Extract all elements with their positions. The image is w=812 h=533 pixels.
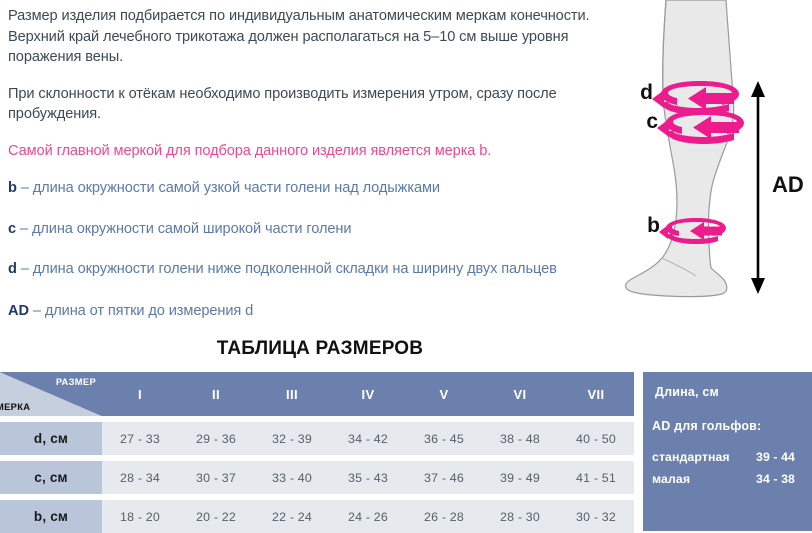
table-header-row: РАЗМЕР МЕРКА I II III IV V VI VII [0,372,634,416]
definition-text-ad: длина от пятки до измерения d [45,303,253,319]
column-header-6: VI [482,372,558,416]
cell-b-4: 24 - 26 [330,500,406,533]
size-table-title: ТАБЛИЦА РАЗМЕРОВ [0,338,640,360]
size-table: РАЗМЕР МЕРКА I II III IV V VI VII d, см … [0,372,634,533]
cell-b-2: 20 - 22 [178,500,254,533]
length-panel-row-standard: стандартная 39 - 44 [652,450,812,464]
cell-c-7: 41 - 51 [558,461,634,494]
diagram-label-b: b [647,214,660,237]
cell-c-1: 28 - 34 [102,461,178,494]
cell-c-5: 37 - 46 [406,461,482,494]
diagram-label-c: c [646,110,658,133]
row-label-c: с, см [0,461,102,494]
cell-d-3: 32 - 39 [254,422,330,455]
definition-c: c – длина окружности самой широкой части… [8,219,604,240]
highlight-note: Самой главной меркой для подбора данного… [8,141,604,162]
cell-c-3: 33 - 40 [254,461,330,494]
definition-dash-ad: – [29,303,45,319]
table-row: с, см 28 - 34 30 - 37 33 - 40 35 - 43 37… [0,461,634,494]
measure-ring-b-icon [659,218,726,244]
cell-c-2: 30 - 37 [178,461,254,494]
column-header-2: II [178,372,254,416]
corner-size-label: РАЗМЕР [56,376,96,387]
length-row-value-small: 34 - 38 [756,472,795,486]
definition-dash-d: – [17,261,33,277]
column-header-5: V [406,372,482,416]
definition-key-d: d [8,261,17,277]
definition-b: b – длина окружности самой узкой части г… [8,178,604,199]
column-header-1: I [102,372,178,416]
leg-silhouette-icon [626,0,734,297]
cell-d-5: 36 - 45 [406,422,482,455]
corner-measure-label: МЕРКА [0,401,30,412]
cell-b-1: 18 - 20 [102,500,178,533]
row-label-b: b, см [0,500,102,533]
length-panel-title: Длина, см [655,385,812,399]
definition-text-b: длина окружности самой узкой части голен… [33,180,440,196]
diagram-label-ad: AD [772,172,804,197]
instruction-paragraph-1: Размер изделия подбирается по индивидуал… [8,6,604,68]
length-info-panel: Длина, см AD для гольфов: стандартная 39… [643,372,812,531]
definition-ad: AD – длина от пятки до измерения d [8,301,604,322]
definition-dash-c: – [16,221,32,237]
definition-text-d: длина окружности голени ниже подколенной… [33,261,557,277]
table-row: d, см 27 - 33 29 - 36 32 - 39 34 - 42 36… [0,422,634,455]
ad-dimension-arrow-icon [751,81,765,294]
cell-b-6: 28 - 30 [482,500,558,533]
definition-key-ad: AD [8,303,29,319]
length-row-name-small: малая [652,472,756,486]
cell-b-5: 26 - 28 [406,500,482,533]
instruction-paragraph-2: При склонности к отёкам необходимо произ… [8,84,604,125]
column-header-3: III [254,372,330,416]
cell-c-4: 35 - 43 [330,461,406,494]
row-label-d: d, см [0,422,102,455]
leg-measurement-diagram: d c b AD [604,0,812,330]
definition-key-b: b [8,180,17,196]
definition-d: d – длина окружности голени ниже подколе… [8,259,604,280]
instructions-text-column: Размер изделия подбирается по индивидуал… [8,6,604,341]
definition-text-c: длина окружности самой широкой части гол… [32,221,351,237]
cell-d-1: 27 - 33 [102,422,178,455]
cell-b-7: 30 - 32 [558,500,634,533]
cell-c-6: 39 - 49 [482,461,558,494]
diagram-label-d: d [640,81,653,104]
cell-d-4: 34 - 42 [330,422,406,455]
cell-d-6: 38 - 48 [482,422,558,455]
cell-d-2: 29 - 36 [178,422,254,455]
length-row-value-standard: 39 - 44 [756,450,795,464]
length-row-name-standard: стандартная [652,450,756,464]
definition-dash-b: – [17,180,33,196]
column-header-7: VII [558,372,634,416]
length-panel-row-small: малая 34 - 38 [652,472,812,486]
cell-b-3: 22 - 24 [254,500,330,533]
table-corner-cell: РАЗМЕР МЕРКА [0,372,102,416]
length-panel-subtitle: AD для гольфов: [652,419,812,433]
column-header-4: IV [330,372,406,416]
cell-d-7: 40 - 50 [558,422,634,455]
definition-key-c: c [8,221,16,237]
table-row: b, см 18 - 20 20 - 22 22 - 24 24 - 26 26… [0,500,634,533]
